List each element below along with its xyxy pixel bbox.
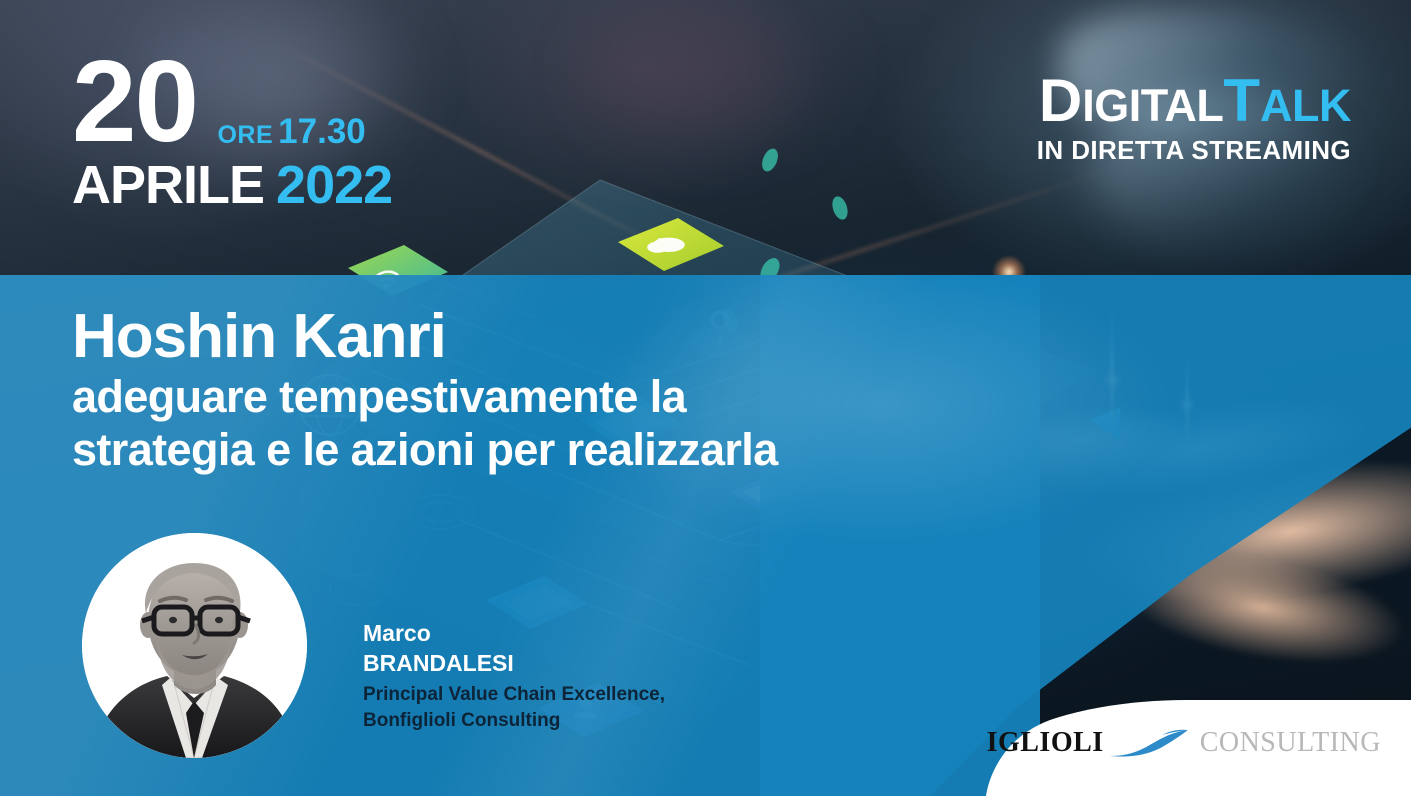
event-title: Hoshin Kanri adeguare tempestivamente la… — [72, 305, 778, 476]
bonfiglioli-consulting-logo: BONFIGLIOLI CONSULTING — [986, 726, 1381, 760]
time-label: ORE — [217, 121, 273, 149]
event-day: 20 — [72, 52, 197, 152]
speaker-last-name: BRANDALESI — [363, 648, 665, 678]
title-line-1: Hoshin Kanri — [72, 305, 778, 368]
wave-swoosh-icon — [1108, 726, 1194, 760]
logo-secondary-text: CONSULTING — [1200, 727, 1381, 759]
event-month-year: APRILE2022 — [72, 158, 392, 212]
title-line-3: strategia e le azioni per realizzarla — [72, 423, 778, 476]
speaker-role: Principal Value Chain Excellence, — [363, 682, 665, 709]
speaker-first-name: Marco — [363, 618, 665, 648]
speaker-organization: Bonfiglioli Consulting — [363, 708, 665, 735]
event-month: APRILE — [72, 155, 264, 215]
digital-rest: IGITAL — [1082, 80, 1223, 131]
event-time: ORE17.30 — [217, 112, 365, 152]
logo-panel: BONFIGLIOLI CONSULTING — [986, 700, 1411, 796]
digital-initial: D — [1039, 67, 1082, 134]
speaker-portrait-illustration — [82, 533, 307, 758]
event-year: 2022 — [276, 155, 392, 215]
time-value: 17.30 — [278, 112, 366, 151]
event-date-block: 20 ORE17.30 APRILE2022 — [72, 52, 392, 212]
talk-rest: ALK — [1260, 80, 1351, 131]
webinar-promo-banner: 20 ORE17.30 APRILE2022 DIGITALTALK IN DI… — [0, 0, 1411, 796]
talk-initial: T — [1223, 67, 1260, 134]
logo-primary-text: BONFIGLIOLI — [986, 727, 1104, 759]
title-line-2: adeguare tempestivamente la — [72, 370, 778, 423]
digitaltalk-logo: DIGITALTALK IN DIRETTA STREAMING — [1037, 72, 1351, 166]
speaker-info: Marco BRANDALESI Principal Value Chain E… — [363, 618, 665, 735]
streaming-subtitle: IN DIRETTA STREAMING — [1037, 135, 1351, 166]
speaker-avatar — [82, 533, 307, 758]
digitaltalk-wordmark: DIGITALTALK — [1037, 72, 1351, 129]
